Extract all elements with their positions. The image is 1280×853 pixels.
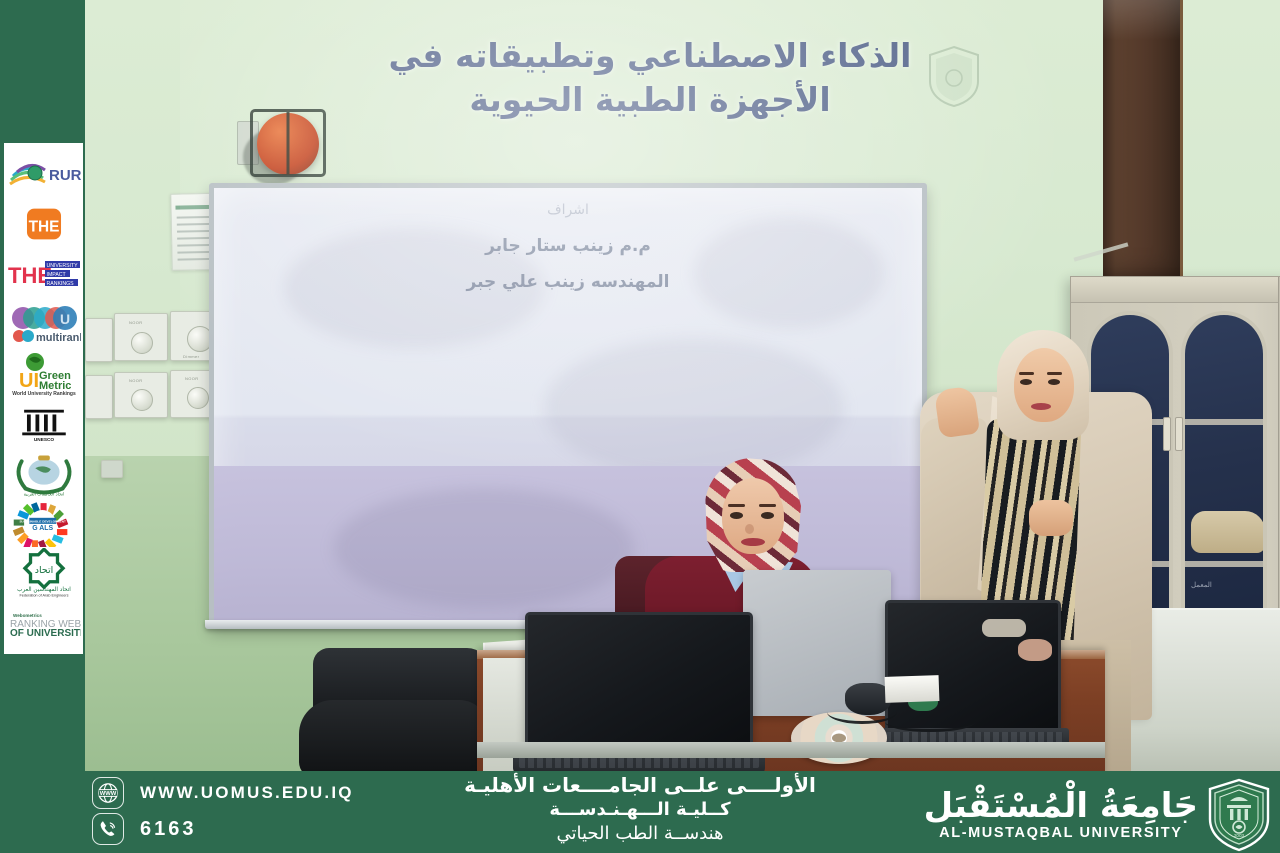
ball-cage: [250, 109, 326, 177]
cabinet-inner-label: المعمل: [1191, 581, 1212, 589]
svg-text:UI: UI: [19, 370, 39, 392]
university-name-arabic: جَامِعَةُ الْمُسْتَقْبَل: [924, 789, 1198, 825]
sidebar-logo-rur: RUR: [7, 149, 81, 199]
wall-dimmer-3[interactable]: NOOR: [114, 372, 168, 418]
website-row[interactable]: WWW WWW.UOMUS.EDU.IQ: [92, 775, 354, 811]
the-label: THE: [28, 218, 59, 235]
dimmer-knob-1[interactable]: [131, 332, 153, 354]
sidebar-logo-unesco: UNESCO: [7, 399, 81, 449]
university-name-english: AL-MUSTAQBAL UNIVERSITY: [924, 825, 1198, 841]
university-wordmark: جَامِعَةُ الْمُسْتَقْبَل AL-MUSTAQBAL UN…: [924, 789, 1198, 842]
cabinet-cloth-item: [1191, 511, 1265, 553]
laptop-sticker-side: [1018, 639, 1052, 661]
board-supervisor-label: اشراف: [214, 202, 922, 218]
svg-text:WWW: WWW: [100, 791, 117, 797]
laptop-sticker-top: [982, 619, 1026, 637]
sidebar-logo-arab-universities: اتحاد الجامعات العربية: [7, 448, 81, 498]
tagline-line-3: هندســة الطب الحياتي: [420, 822, 860, 846]
cabinet-shelf: [1185, 419, 1263, 425]
sidebar-logo-arab-engineers: اتحاد اتحاد المهندسين العرب Federation o…: [7, 548, 81, 598]
slide-title-line-1: الذكاء الاصطناعي وتطبيقاته في: [300, 34, 1000, 78]
desk-front-rail: [477, 742, 1105, 758]
svg-text:RANKINGS: RANKINGS: [46, 281, 74, 287]
footer-university-brand: جَامِعَةُ الْمُسْتَقْبَل AL-MUSTAQBAL UN…: [924, 777, 1272, 853]
arab-universities-label: اتحاد الجامعات العربية: [23, 493, 64, 498]
university-crest-icon: [928, 45, 980, 108]
svg-text:2003: 2003: [1234, 833, 1245, 838]
board-name-1: م.م زينب ستار جابر: [214, 236, 922, 256]
wall-switch-plate-1[interactable]: [85, 318, 113, 362]
supervisor-face: [1014, 348, 1074, 422]
black-laptop[interactable]: [525, 612, 753, 752]
cabinet-handle-right[interactable]: [1175, 417, 1183, 451]
svg-text:اتحاد: اتحاد: [34, 565, 52, 576]
slide-title-line-2: الأجهزة الطبية الحيوية: [300, 78, 1000, 122]
svg-text:OF UNIVERSITIES: OF UNIVERSITIES: [10, 628, 81, 638]
globe-www-icon: WWW: [92, 777, 124, 809]
screenshot-root: الذكاء الاصطناعي وتطبيقاته في الأجهزة ال…: [0, 0, 1280, 853]
sidebar-logo-the-impact: THE UNIVERSITY IMPACT RANKINGS: [7, 249, 81, 299]
wall-mounted-ball: [237, 107, 329, 189]
footer-tagline: الأولــــى علــى الجامــــعات الأهليـة ك…: [420, 772, 860, 846]
whiteboard: اشراف م.م زينب ستار جابر المهندسه زينب ع…: [209, 183, 927, 628]
footer-bar: WWW WWW.UOMUS.EDU.IQ 6163 الأولــــى علـ…: [0, 771, 1280, 853]
board-name-2: المهندسه زينب علي جبر: [214, 272, 922, 292]
projected-slide-title: الذكاء الاصطناعي وتطبيقاته في الأجهزة ال…: [300, 34, 1000, 121]
footer-contact-block: WWW WWW.UOMUS.EDU.IQ 6163: [92, 775, 354, 847]
power-cable: [885, 712, 975, 732]
svg-text:U: U: [59, 311, 69, 327]
cabinet-shelf: [1185, 561, 1263, 567]
phone-icon: [92, 813, 124, 845]
accreditation-logo-strip: RUR THE THE UNIVERSITY IMPACT: [4, 143, 83, 654]
svg-text:Webometrics: Webometrics: [13, 613, 42, 618]
cabinet-handle-left[interactable]: [1163, 417, 1171, 451]
dimmer-knob-3[interactable]: [131, 389, 153, 411]
multirank-label: multirank: [36, 332, 81, 344]
svg-text:UNIVERSITY: UNIVERSITY: [46, 263, 78, 269]
phone-row[interactable]: 6163: [92, 811, 354, 847]
dimmer-knob-4[interactable]: [187, 387, 209, 409]
accreditation-sidebar: RUR THE THE UNIVERSITY IMPACT: [0, 0, 85, 853]
svg-text:SUSTAINABLE DEVELOPMENT: SUSTAINABLE DEVELOPMENT: [19, 520, 66, 524]
phone-number[interactable]: 6163: [140, 818, 197, 841]
website-url[interactable]: WWW.UOMUS.EDU.IQ: [140, 783, 354, 803]
black-backpack-bottom: [299, 700, 489, 778]
sidebar-logo-multirank: U multirank: [7, 299, 81, 349]
sidebar-logo-the: THE: [7, 199, 81, 249]
paper-stack: [885, 675, 940, 703]
supervisor-sleeve: [921, 418, 987, 614]
svg-text:G ALS: G ALS: [32, 525, 53, 532]
tagline-line-2: كــليـة الـــهـنـدســـة: [420, 798, 860, 822]
university-shield-icon: 2003: [1206, 777, 1272, 853]
svg-text:World University Rankings: World University Rankings: [12, 391, 76, 397]
unesco-label: UNESCO: [33, 437, 54, 443]
sidebar-logo-ui-greenmetric: UI Green Metric World University Ranking…: [7, 349, 81, 399]
wall-dimmer-1[interactable]: NOOR: [114, 313, 168, 361]
event-photo: الذكاء الاصطناعي وتطبيقاته في الأجهزة ال…: [85, 0, 1280, 780]
rur-label: RUR: [49, 167, 81, 184]
svg-text:IMPACT: IMPACT: [46, 272, 66, 278]
arab-engineers-label-ar: اتحاد المهندسين العرب: [17, 587, 71, 593]
wall-socket[interactable]: [101, 460, 123, 478]
sidebar-logo-sdg: SUSTAINABLE DEVELOPMENT G ALS: [7, 498, 81, 548]
supervisor-lower-hand: [1029, 500, 1073, 536]
cabinet-glass-door-right[interactable]: المعمل: [1181, 311, 1267, 641]
tagline-line-1: الأولــــى علــى الجامــــعات الأهليـة: [420, 772, 860, 798]
cabinet-top: [1071, 277, 1280, 303]
sidebar-logo-webometrics: Webometrics RANKING WEB OF UNIVERSITIES: [7, 598, 81, 648]
wall-switch-plate-2[interactable]: [85, 375, 113, 419]
